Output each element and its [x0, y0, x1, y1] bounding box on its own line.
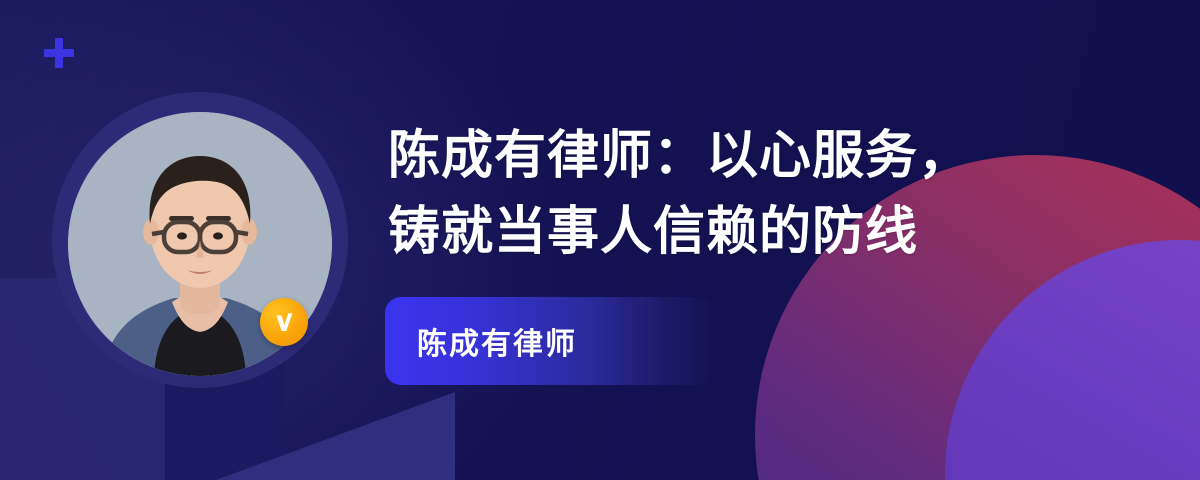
plus-icon [44, 38, 74, 68]
verified-check-icon [271, 309, 297, 335]
verified-badge [260, 298, 308, 346]
page-title: 陈成有律师：以心服务， 铸就当事人信赖的防线 [388, 118, 1048, 270]
promo-banner: 陈成有律师：以心服务， 铸就当事人信赖的防线 陈成有律师 [0, 0, 1200, 480]
decorative-wedge-triangle [205, 392, 455, 480]
avatar [52, 92, 348, 388]
cta-button[interactable]: 陈成有律师 [385, 297, 715, 385]
headline-block: 陈成有律师：以心服务， 铸就当事人信赖的防线 [388, 118, 1048, 270]
